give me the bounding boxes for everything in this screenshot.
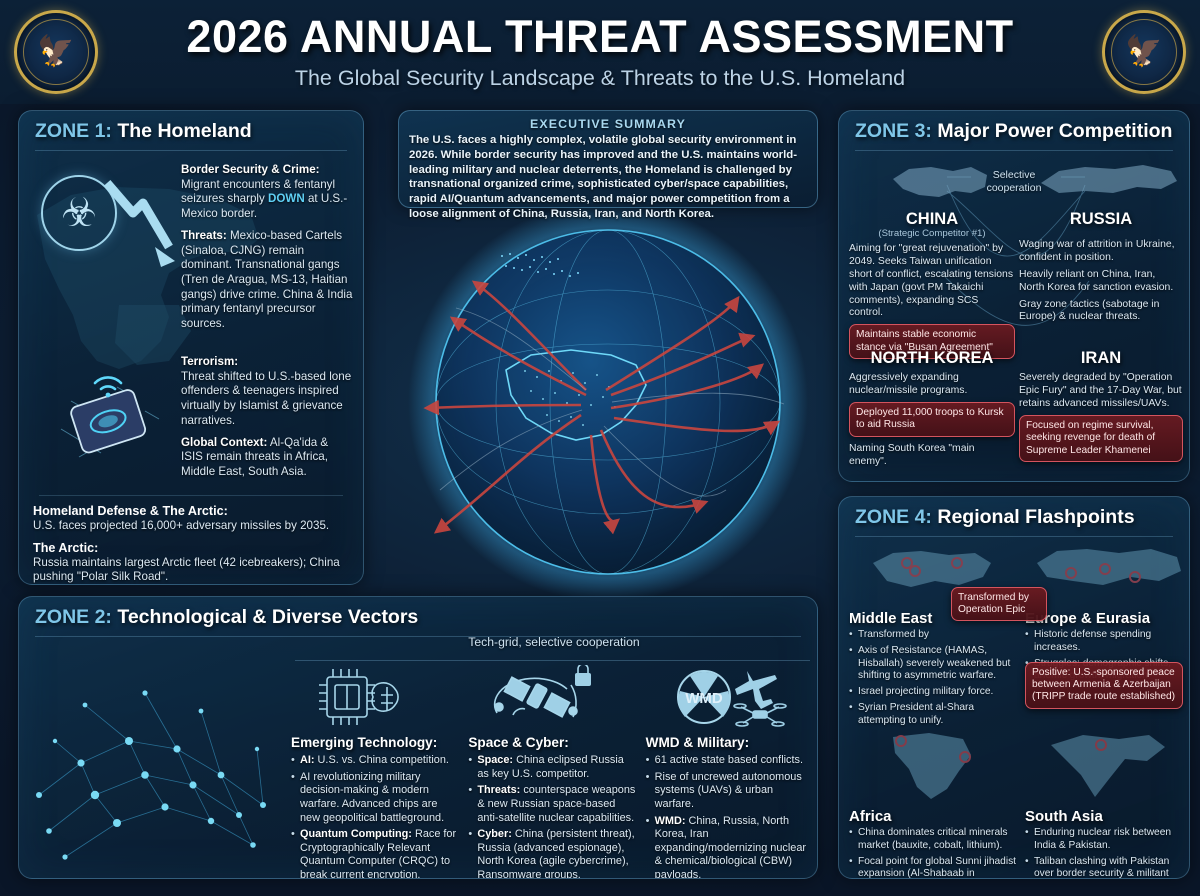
actor-russia-para-1: Waging war of attrition in Ukraine, conf…: [1019, 239, 1183, 265]
russia-map-icon: [1033, 157, 1190, 205]
zone-4-kicker: ZONE 4:: [855, 506, 932, 528]
item-lead: Quantum Computing:: [300, 828, 412, 840]
zone-2-title: ZONE 2: Technological & Diverse Vectors: [35, 597, 801, 637]
zone-2-column-emerging-technology: Emerging Technology: AI: U.S. vs. China …: [291, 735, 458, 879]
zone-2-columns: Emerging Technology: AI: U.S. vs. China …: [291, 735, 813, 879]
arctic-lead: The Arctic:: [33, 541, 349, 555]
item-lead: Space:: [477, 754, 513, 766]
region-name-africa: Africa: [849, 808, 1017, 825]
list-item: AI: U.S. vs. China competition.: [291, 754, 458, 768]
actor-nk-para-2: Naming South Korea "main enemy".: [849, 443, 1015, 469]
svg-text:WMD: WMD: [685, 690, 723, 707]
page-title: 2026 ANNUAL THREAT ASSESSMENT: [120, 14, 1080, 59]
border-p1-highlight: DOWN: [268, 192, 305, 205]
list-item: Syrian President al-Shara attempting to …: [849, 702, 1017, 728]
item-text: U.S. vs. China competition.: [315, 754, 449, 766]
executive-summary-body: The U.S. faces a highly complex, volatil…: [409, 133, 807, 222]
item-text: 61 active state based conflicts.: [655, 754, 803, 766]
list-item: Rise of uncrewed autonomous systems (UAV…: [646, 771, 813, 812]
actor-iran: IRAN Severely degraded by "Operation Epi…: [1019, 349, 1183, 462]
zone-3-kicker: ZONE 3:: [855, 120, 932, 142]
homeland-defense-body: U.S. faces projected 16,000+ adversary m…: [33, 519, 349, 534]
zone-2-kicker: ZONE 2:: [35, 606, 112, 628]
list-item: Enduring nuclear risk between India & Pa…: [1025, 827, 1185, 853]
col-head-space-cyber: Space & Cyber:: [468, 735, 635, 750]
globe-threat-vectors: [396, 190, 820, 614]
page-header: 🦅 2026 ANNUAL THREAT ASSESSMENT The Glob…: [0, 0, 1200, 104]
eagle-icon: 🦅: [37, 37, 74, 67]
zone-3-panel[interactable]: ZONE 3: Major Power Competition CHINA (S…: [838, 110, 1190, 482]
item-lead: Threats:: [477, 784, 520, 796]
list-item: Axis of Resistance (HAMAS, Hisballah) se…: [849, 645, 1017, 683]
region-name-south-asia: South Asia: [1025, 808, 1185, 825]
list-item: AI revolutionizing military decision-mak…: [291, 771, 458, 826]
ai-chip-brain-icon: [319, 669, 398, 725]
actor-russia-para-3: Gray zone tactics (sabotage in Europe) &…: [1019, 299, 1183, 325]
region-middle-east: Middle East Transformed by Axis of Resis…: [849, 541, 1017, 730]
col-head-wmd-military: WMD & Military:: [646, 735, 813, 750]
actor-sub-china: (Strategic Competitor #1): [849, 228, 1015, 239]
seal-right: 🦅: [1102, 10, 1186, 94]
region-name-europe-eurasia: Europe & Eurasia: [1025, 610, 1185, 627]
africa-map-icon: [867, 731, 1017, 803]
zone-1-kicker: ZONE 1:: [35, 120, 112, 142]
list-item: Space: China eclipsed Russia as key U.S.…: [468, 754, 635, 781]
actor-nk-callout: Deployed 11,000 troops to Kursk to aid R…: [849, 402, 1015, 437]
actor-name-north-korea: NORTH KOREA: [849, 349, 1015, 368]
actor-iran-callout: Focused on regime survival, seeking reve…: [1019, 415, 1183, 462]
list-item: Quantum Computing: Race for Cryptographi…: [291, 828, 458, 879]
actor-china-para-1: Aiming for "great rejuvenation" by 2049.…: [849, 243, 1015, 320]
actor-north-korea: NORTH KOREA Aggressively expanding nucle…: [849, 349, 1015, 472]
border-threats-text: Threats: Mexico-based Cartels (Sinaloa, …: [181, 229, 353, 332]
zone-1-title-text: The Homeland: [117, 120, 251, 142]
item-lead: WMD:: [655, 815, 686, 827]
zone-2-icon-row: WMD: [309, 665, 809, 727]
list-item: Historic defense spending increases.: [1025, 629, 1185, 655]
europe-eurasia-map-icon: [1031, 541, 1189, 603]
zone-1-border-block: ☣ Border Security & Crime: Migrant encou…: [19, 151, 363, 339]
actor-name-iran: IRAN: [1019, 349, 1183, 368]
actor-iran-para-1: Severely degraded by "Operation Epic Fur…: [1019, 372, 1183, 411]
item-text: AI revolutionizing military decision-mak…: [300, 771, 444, 824]
region-europe-eurasia-callout: Positive: U.S.-sponsored peace between A…: [1025, 662, 1183, 709]
region-middle-east-callout: Transformed by Operation Epic: [951, 587, 1047, 621]
zone-4-panel[interactable]: ZONE 4: Regional Flashpoints Middle East…: [838, 496, 1190, 879]
network-mesh-icon: [25, 645, 295, 875]
region-south-asia: South Asia Enduring nuclear risk between…: [1025, 731, 1185, 879]
arctic-body: Russia maintains largest Arctic fleet (4…: [33, 556, 349, 585]
zone-2-column-wmd-military: WMD & Military: 61 active state based co…: [646, 735, 813, 879]
zone-2-panel[interactable]: ZONE 2: Technological & Diverse Vectors: [18, 596, 818, 879]
terrorism-body: Threat shifted to U.S.-based lone offend…: [181, 370, 351, 427]
list-item: China dominates critical minerals market…: [849, 827, 1017, 853]
list-item: WMD: China, Russia, North Korea, Iran ex…: [646, 815, 813, 880]
smartphone-signal-icon: [55, 357, 165, 477]
list-item: Focal point for global Sunni jihadist ex…: [849, 856, 1017, 880]
eagle-icon: 🦅: [1125, 37, 1162, 67]
zone-1-title: ZONE 1: The Homeland: [35, 111, 347, 151]
actor-russia-para-2: Heavily reliant on China, Iran, North Ko…: [1019, 269, 1183, 295]
list-item: Transformed by: [849, 629, 1017, 642]
actor-name-russia: RUSSIA: [1019, 210, 1183, 229]
zone-1-terrorism-block: Terrorism: Threat shifted to U.S.-based …: [19, 343, 363, 489]
col-head-emerging-technology: Emerging Technology:: [291, 735, 458, 750]
arrow-down-icon: [103, 175, 181, 275]
zone-3-title-text: Major Power Competition: [937, 120, 1172, 142]
list-item: Taliban clashing with Pakistan over bord…: [1025, 856, 1185, 880]
terrorism-icon-group: [31, 349, 181, 489]
zone-2-column-space-cyber: Space & Cyber: Space: China eclipsed Rus…: [468, 735, 635, 879]
list-item: Israel projecting military force.: [849, 686, 1017, 699]
item-lead: AI:: [300, 754, 315, 766]
border-threats-lead: Threats:: [181, 229, 227, 242]
list-item: Cyber: China (persistent threat), Russia…: [468, 828, 635, 879]
south-asia-map-icon: [1035, 731, 1185, 803]
infographic-root: 🦅 2026 ANNUAL THREAT ASSESSMENT The Glob…: [0, 0, 1200, 896]
homeland-defense-lead: Homeland Defense & The Arctic:: [33, 504, 349, 518]
terrorism-text: Terrorism: Threat shifted to U.S.-based …: [181, 355, 353, 429]
aircraft-drone-icon: [734, 671, 786, 726]
actor-name-china: CHINA: [849, 210, 1015, 229]
global-context-lead: Global Context:: [181, 436, 267, 449]
seal-left: 🦅: [14, 10, 98, 94]
border-security-text: Border Security & Crime: Migrant encount…: [181, 163, 353, 222]
border-icon-group: ☣: [31, 157, 181, 297]
zone-4-title: ZONE 4: Regional Flashpoints: [855, 497, 1173, 537]
executive-summary-panel: EXECUTIVE SUMMARY The U.S. faces a highl…: [398, 110, 818, 208]
zone-1-defense-block: Homeland Defense & The Arctic: U.S. face…: [19, 502, 363, 585]
satellite-lock-icon: [495, 665, 591, 717]
executive-summary-heading: EXECUTIVE SUMMARY: [409, 117, 807, 131]
border-security-lead: Border Security & Crime:: [181, 163, 320, 176]
region-africa: Africa China dominates critical minerals…: [849, 731, 1017, 879]
tech-grid-label: Tech-grid, selective cooperation: [319, 635, 789, 649]
item-text: Rise of uncrewed autonomous systems (UAV…: [655, 771, 802, 810]
border-threats-body: Mexico-based Cartels (Sinaloa, CJNG) rem…: [181, 229, 352, 330]
zone-2-rule: [295, 660, 810, 661]
item-lead: Cyber:: [477, 828, 512, 840]
zone-3-title: ZONE 3: Major Power Competition: [855, 111, 1173, 151]
list-item: Threats: counterspace weapons & new Russ…: [468, 784, 635, 825]
terrorism-lead: Terrorism:: [181, 355, 238, 368]
list-item: 61 active state based conflicts.: [646, 754, 813, 768]
wmd-radiation-icon: WMD: [678, 671, 730, 723]
actor-russia: RUSSIA Waging war of attrition in Ukrain…: [1019, 157, 1183, 328]
zone-1-divider: [39, 495, 343, 496]
page-subtitle: The Global Security Landscape & Threats …: [120, 66, 1080, 91]
zone-2-title-text: Technological & Diverse Vectors: [117, 606, 418, 628]
zone-4-title-text: Regional Flashpoints: [937, 506, 1134, 528]
global-context-text: Global Context: Al-Qa'ida & ISIS remain …: [181, 436, 353, 480]
actor-nk-para-1: Aggressively expanding nuclear/missile p…: [849, 372, 1015, 398]
zone-1-panel[interactable]: ZONE 1: The Homeland ☣ Border Security &…: [18, 110, 364, 585]
